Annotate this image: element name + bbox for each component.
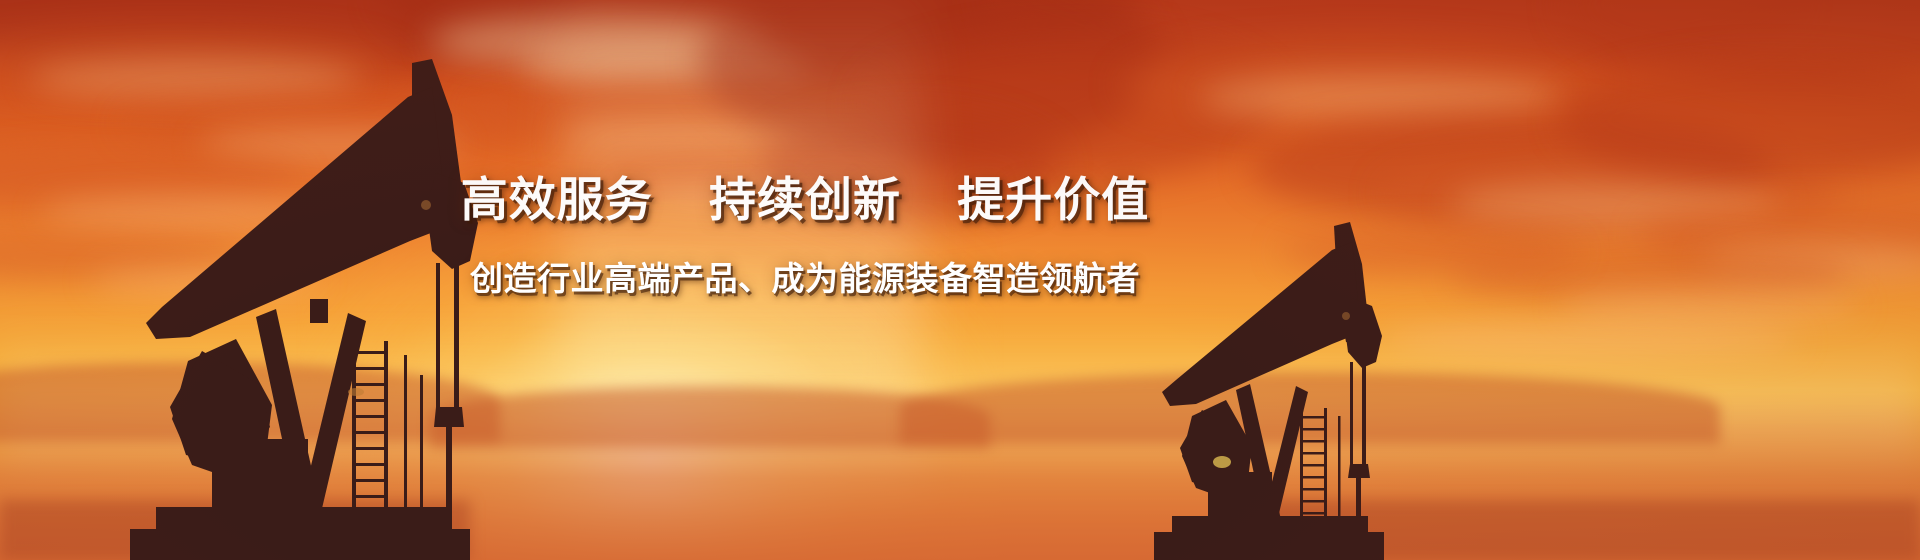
hero-banner: 高效服务 持续创新 提升价值 创造行业高端产品、成为能源装备智造领航者 — [0, 0, 1920, 560]
pumpjack-left — [60, 55, 540, 560]
pumpjack-right — [1110, 220, 1440, 560]
